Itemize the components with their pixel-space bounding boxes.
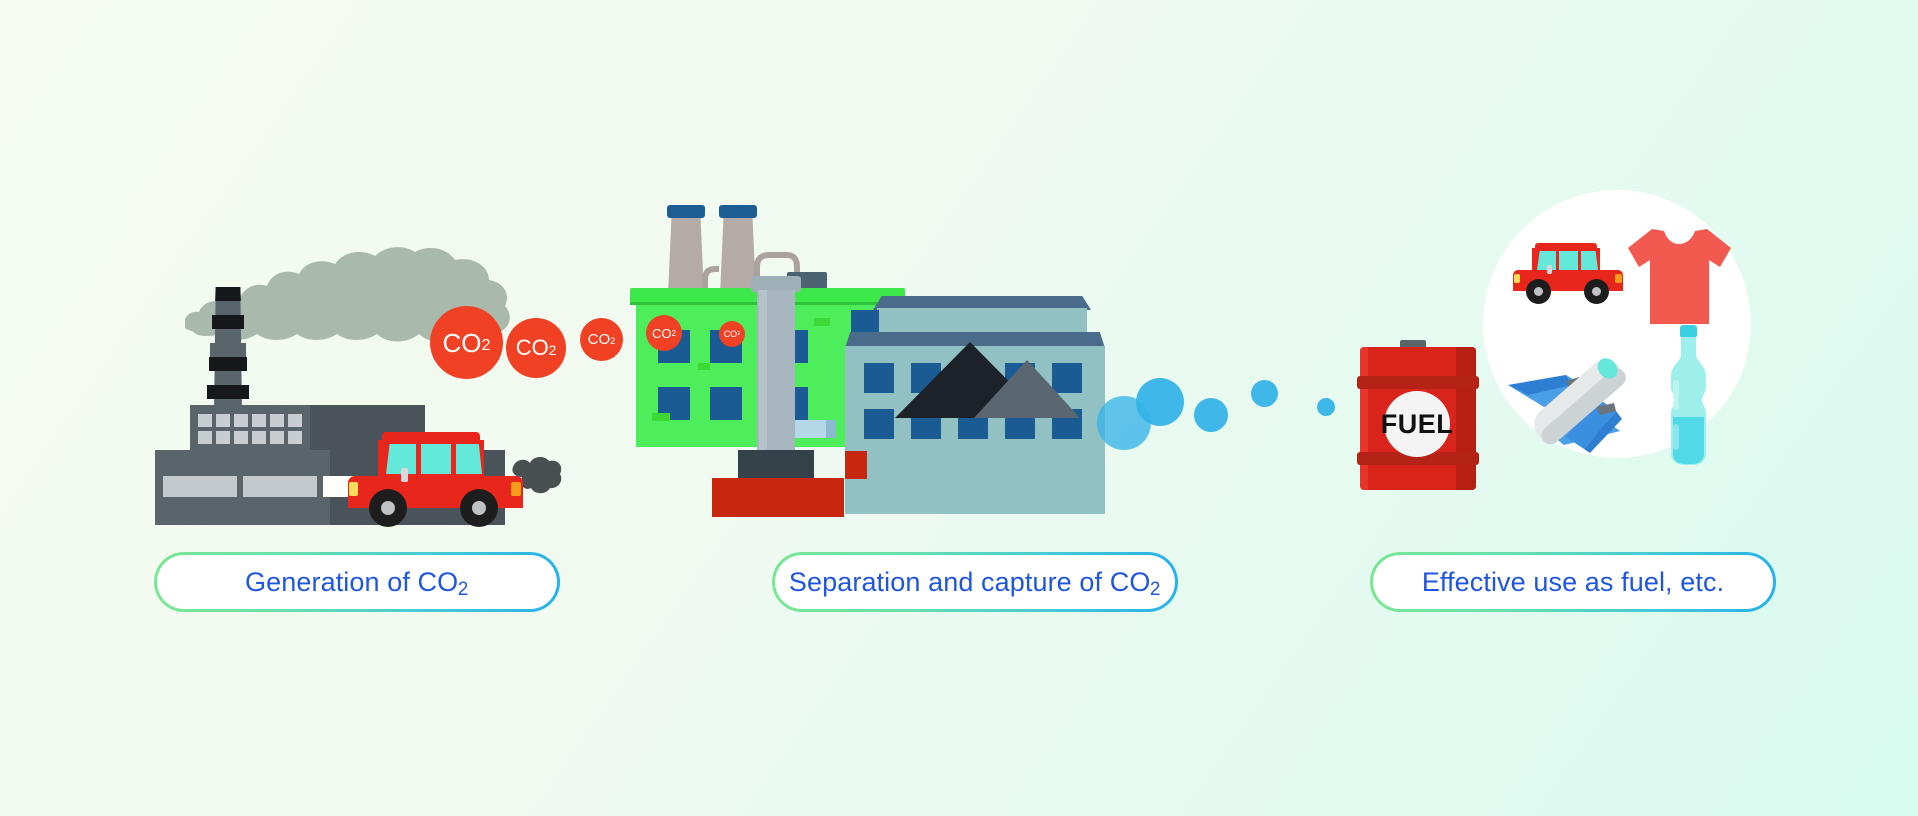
step-label-use[interactable]: Effective use as fuel, etc. (1370, 552, 1776, 612)
co2-marker-small: CO2 (580, 318, 623, 361)
step-label-generation-text: Generation of CO2 (245, 569, 469, 596)
red-car-icon (348, 432, 523, 527)
coal-pile-secondary-icon (974, 360, 1080, 418)
co2-marker-plant-left: CO2 (646, 315, 682, 351)
co2-marker-medium: CO2 (506, 318, 566, 378)
step-label-generation[interactable]: Generation of CO2 (154, 552, 560, 612)
infographic-canvas: CO2 CO2 CO2 (0, 0, 1918, 816)
fuel-label-badge: FUEL (1384, 391, 1450, 457)
airplane-icon (1504, 333, 1644, 453)
product-car-icon (1513, 243, 1623, 305)
step-label-capture-text: Separation and capture of CO2 (789, 569, 1161, 596)
step-capture-illustration: CO2 CO2 (640, 0, 1280, 540)
co2-marker-large: CO2 (430, 306, 503, 379)
tshirt-icon (1628, 229, 1731, 324)
co2-bubble-4 (1251, 380, 1278, 407)
co2-marker-plant-right: CO2 (719, 321, 745, 347)
co2-bubble-3 (1194, 398, 1228, 432)
fuel-barrel-icon: FUEL (1360, 340, 1476, 490)
fuel-label: FUEL (1381, 409, 1454, 440)
step-use-illustration: FUEL (1280, 0, 1918, 540)
step-label-use-text: Effective use as fuel, etc. (1422, 569, 1724, 596)
step-label-capture-inner: Separation and capture of CO2 (775, 555, 1175, 609)
step-label-capture[interactable]: Separation and capture of CO2 (772, 552, 1178, 612)
step-label-generation-inner: Generation of CO2 (157, 555, 557, 609)
plastic-bottle-icon (1660, 325, 1716, 465)
plant-foundation-icon (712, 478, 844, 517)
step-generation-illustration: CO2 CO2 CO2 (0, 0, 640, 540)
factory-chimney-icon (205, 287, 251, 412)
chimney-tower-icon (750, 276, 802, 466)
step-label-use-inner: Effective use as fuel, etc. (1373, 555, 1773, 609)
chimney-base-icon (738, 450, 814, 478)
co2-bubble-2 (1136, 378, 1184, 426)
